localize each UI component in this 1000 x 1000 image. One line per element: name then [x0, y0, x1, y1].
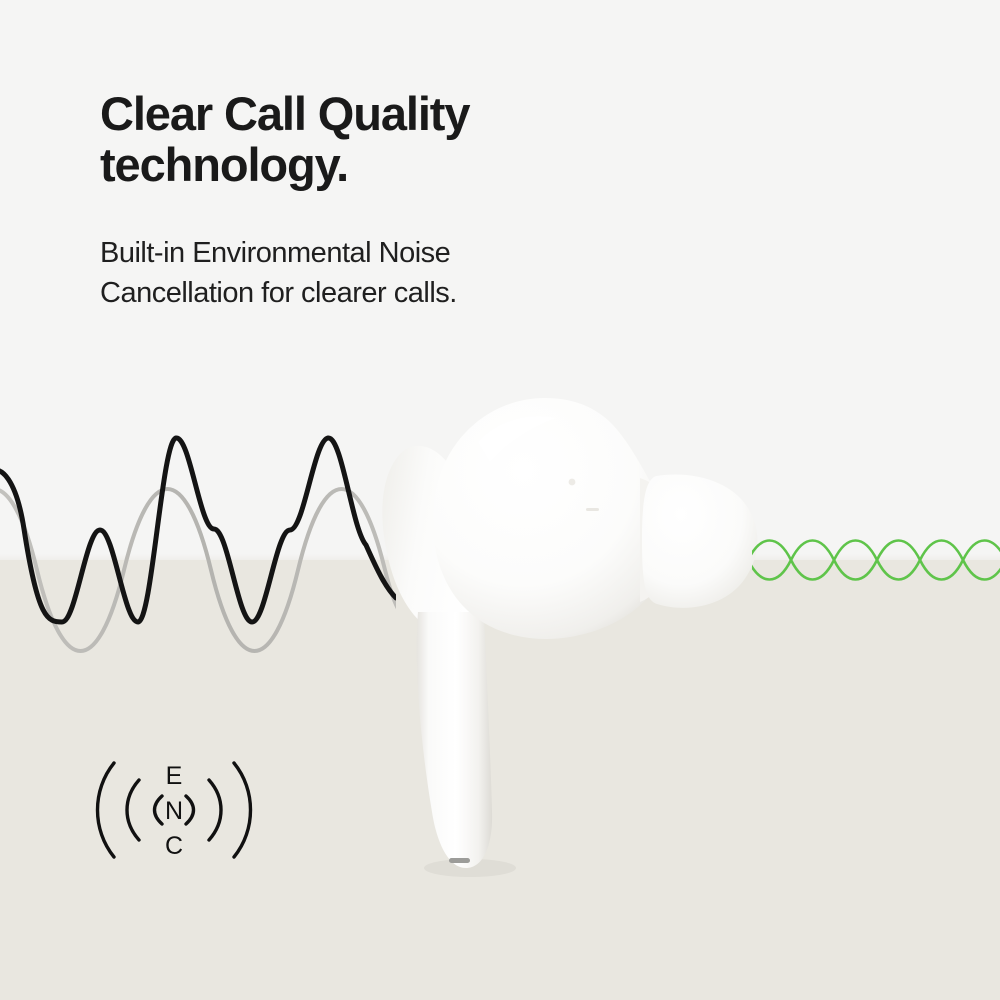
enc-arc-right-middle [209, 780, 221, 840]
enc-arc-left-inner [155, 796, 163, 824]
enc-arc-left-outer [98, 763, 115, 857]
enc-arc-left-middle [127, 780, 139, 840]
enc-arc-right-inner [186, 796, 194, 824]
product-feature-banner: E N C Clear Call Quality technology. Bui… [0, 0, 1000, 1000]
enc-letter-c: C [165, 832, 183, 860]
enc-arc-right-outer [234, 763, 251, 857]
page-title: Clear Call Quality technology. [100, 88, 720, 190]
enc-letter-n: N [165, 797, 183, 825]
enc-letter-e: E [166, 762, 183, 790]
page-subtitle: Built-in Environmental Noise Cancellatio… [100, 233, 720, 313]
